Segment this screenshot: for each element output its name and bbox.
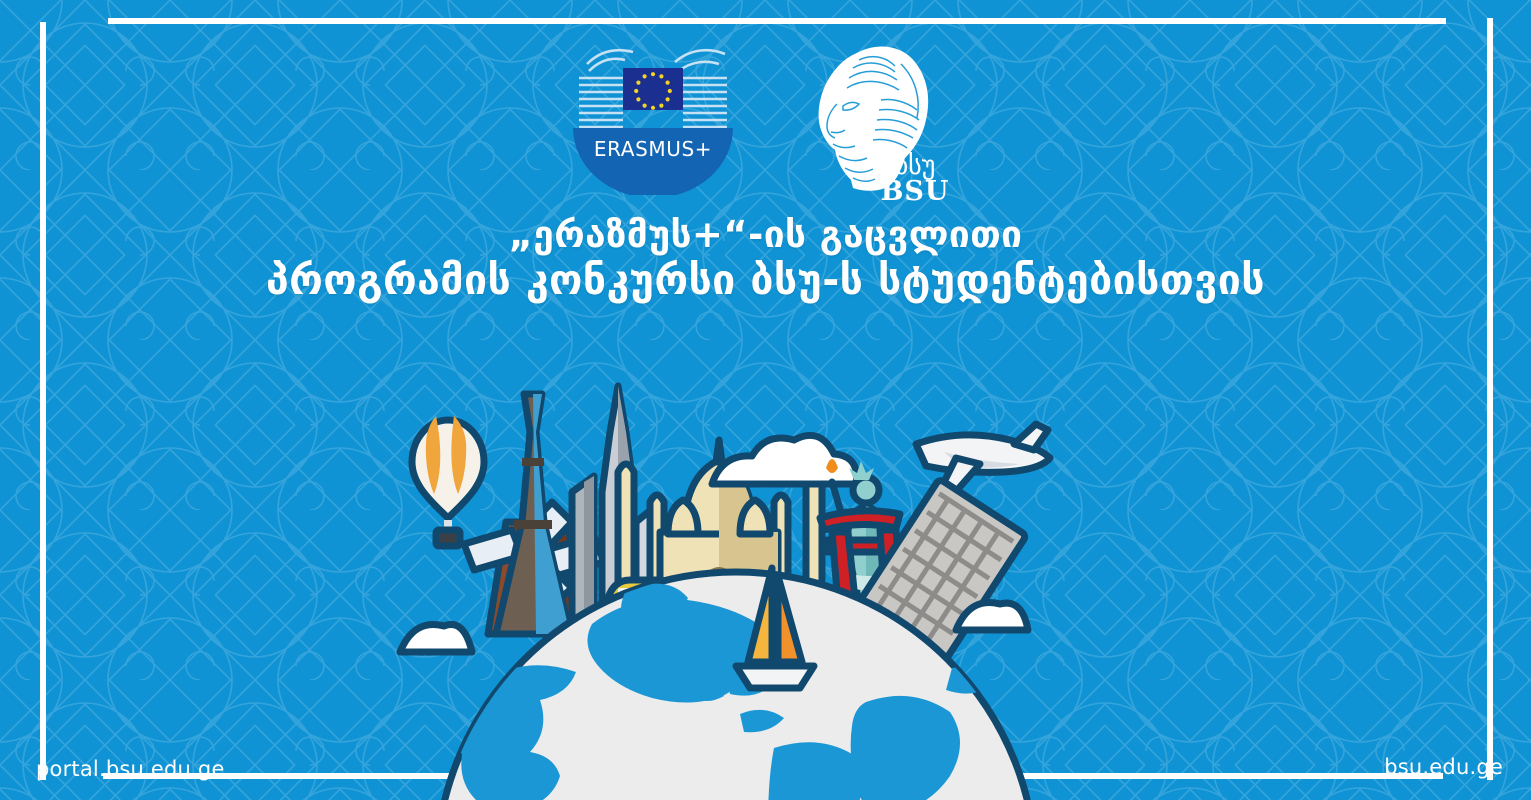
cloud-icon: [712, 435, 857, 484]
poster-canvas: ERASMUS+: [0, 0, 1531, 800]
cloud-left-icon: [400, 624, 472, 652]
portal-url-link[interactable]: portal.bsu.edu.ge: [36, 757, 225, 781]
headline-line-1: „ერაზმუს+“-ის გაცვლითი: [0, 214, 1531, 257]
headline: „ერაზმუს+“-ის გაცვლითი პროგრამის კონკურს…: [0, 214, 1531, 304]
site-url-link[interactable]: bsu.edu.ge: [1384, 755, 1503, 779]
frame-line-top: [108, 18, 1446, 24]
bsu-logo: ბსუ BSU: [797, 40, 965, 210]
bsu-label-en: BSU: [880, 176, 949, 207]
headline-line-2: პროგრამის კონკურსი ბსუ-ს სტუდენტებისთვის: [0, 257, 1531, 305]
logo-row: ERASMUS+: [0, 40, 1531, 210]
hot-air-balloon-icon: [412, 416, 484, 546]
erasmus-plus-logo: ERASMUS+: [567, 40, 739, 195]
erasmus-label: ERASMUS+: [593, 137, 711, 161]
world-travel-globe-illustration: [396, 372, 1076, 800]
